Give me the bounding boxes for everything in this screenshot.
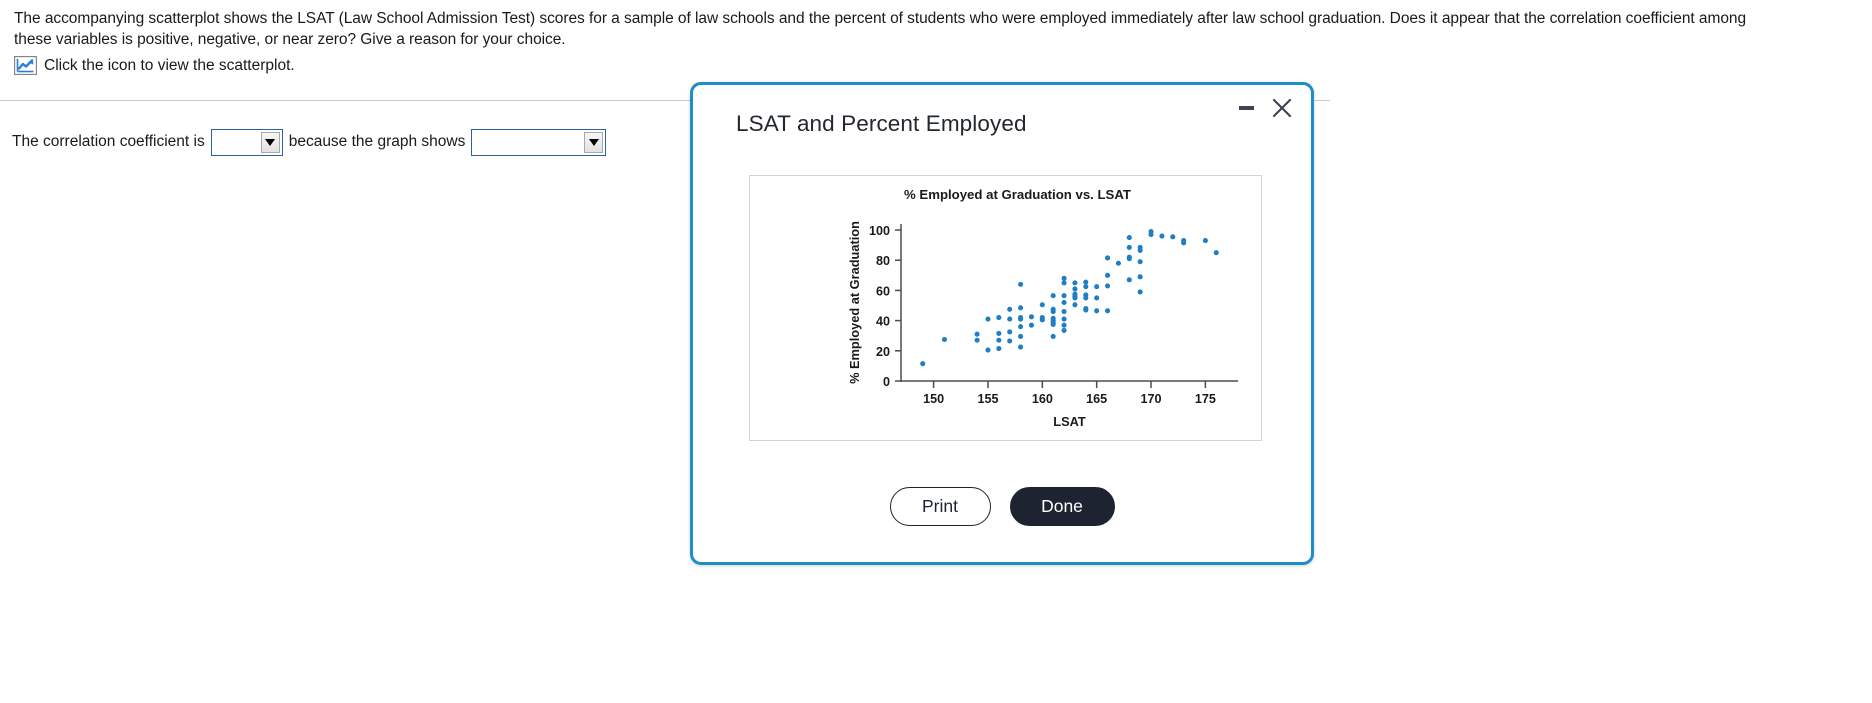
data-point: [1203, 238, 1208, 243]
data-point: [1127, 277, 1132, 282]
data-point: [1127, 256, 1132, 261]
data-point: [975, 332, 980, 337]
data-point: [1148, 232, 1153, 237]
data-point: [942, 337, 947, 342]
chevron-down-icon[interactable]: [584, 132, 603, 153]
data-point: [1062, 280, 1067, 285]
data-point: [1007, 338, 1012, 343]
dialog-titlebar: LSAT and Percent Employed: [693, 85, 1311, 149]
question-line-2: these variables is positive, negative, o…: [14, 29, 1862, 50]
chart-title: % Employed at Graduation vs. LSAT: [904, 187, 1131, 202]
data-point: [1170, 234, 1175, 239]
data-point: [1083, 284, 1088, 289]
data-point: [1072, 302, 1077, 307]
data-point: [1051, 293, 1056, 298]
view-scatterplot-label: Click the icon to view the scatterplot.: [44, 56, 295, 75]
data-point: [1051, 322, 1056, 327]
page-root: The accompanying scatterplot shows the L…: [0, 0, 1872, 703]
scatterplot-dialog: LSAT and Percent Employed % Employed at …: [690, 82, 1314, 565]
caret-shape: [589, 139, 599, 146]
graph-reason-dropdown[interactable]: [471, 129, 606, 156]
data-point: [1062, 328, 1067, 333]
data-point: [1018, 344, 1023, 349]
data-point: [1127, 235, 1132, 240]
data-point: [1105, 283, 1110, 288]
answer-prefix-label: The correlation coefficient is: [12, 133, 205, 151]
data-point: [1094, 284, 1099, 289]
y-tick-label: 100: [869, 224, 890, 238]
data-point: [1094, 308, 1099, 313]
close-icon[interactable]: [1271, 97, 1293, 119]
y-tick-label: 0: [883, 375, 890, 389]
data-point: [1040, 302, 1045, 307]
print-button[interactable]: Print: [890, 487, 991, 526]
question-block: The accompanying scatterplot shows the L…: [14, 8, 1862, 75]
data-point: [1159, 234, 1164, 239]
correlation-sign-dropdown[interactable]: [211, 129, 283, 156]
caret-shape: [265, 139, 275, 146]
data-point: [1138, 274, 1143, 279]
data-point: [1051, 334, 1056, 339]
answer-row: The correlation coefficient is because t…: [12, 128, 612, 156]
data-point: [1018, 324, 1023, 329]
minimize-bar: [1239, 106, 1254, 110]
data-point: [1083, 295, 1088, 300]
done-button[interactable]: Done: [1010, 487, 1115, 526]
data-point: [1018, 334, 1023, 339]
x-tick-label: 160: [1032, 392, 1053, 406]
y-tick-label: 60: [876, 284, 890, 298]
view-scatterplot-link[interactable]: Click the icon to view the scatterplot.: [14, 56, 1862, 75]
data-point: [1105, 273, 1110, 278]
data-point: [996, 315, 1001, 320]
question-line-1: The accompanying scatterplot shows the L…: [14, 8, 1862, 29]
dialog-action-buttons: Print Done: [693, 487, 1311, 526]
line-chart-icon[interactable]: [14, 56, 37, 75]
data-point: [1029, 314, 1034, 319]
data-point: [1018, 305, 1023, 310]
scatterplot-figure: % Employed at Graduation vs. LSAT0204060…: [750, 176, 1261, 440]
data-point: [1007, 329, 1012, 334]
data-point: [1138, 259, 1143, 264]
scatter-series: [920, 229, 1219, 366]
data-point: [1105, 308, 1110, 313]
data-point: [1007, 317, 1012, 322]
x-tick-label: 155: [977, 392, 998, 406]
y-tick-label: 40: [876, 315, 890, 329]
data-point: [1062, 276, 1067, 281]
minimize-icon[interactable]: [1236, 98, 1256, 118]
data-point: [1083, 280, 1088, 285]
data-point: [996, 346, 1001, 351]
data-point: [1029, 323, 1034, 328]
data-point: [920, 361, 925, 366]
data-point: [1138, 248, 1143, 253]
data-point: [1018, 317, 1023, 322]
data-point: [975, 338, 980, 343]
y-axis-label: % Employed at Graduation: [847, 221, 862, 384]
data-point: [1062, 309, 1067, 314]
data-point: [1062, 300, 1067, 305]
data-point: [1040, 317, 1045, 322]
data-point: [1214, 250, 1219, 255]
data-point: [1094, 295, 1099, 300]
data-point: [1116, 261, 1121, 266]
data-point: [1062, 323, 1067, 328]
x-tick-label: 150: [923, 392, 944, 406]
data-point: [1181, 240, 1186, 245]
data-point: [1072, 295, 1077, 300]
dialog-title: LSAT and Percent Employed: [736, 111, 1027, 137]
x-tick-label: 175: [1195, 392, 1216, 406]
y-tick-label: 20: [876, 345, 890, 359]
data-point: [1083, 308, 1088, 313]
y-tick-label: 80: [876, 254, 890, 268]
window-controls: [1236, 97, 1293, 119]
data-point: [985, 348, 990, 353]
x-tick-label: 165: [1086, 392, 1107, 406]
scatterplot-panel: % Employed at Graduation vs. LSAT0204060…: [749, 175, 1262, 441]
x-axis-label: LSAT: [1053, 414, 1086, 429]
data-point: [1138, 289, 1143, 294]
data-point: [996, 331, 1001, 336]
data-point: [985, 317, 990, 322]
chevron-down-icon[interactable]: [261, 132, 280, 153]
data-point: [1051, 309, 1056, 314]
data-point: [996, 338, 1001, 343]
data-point: [1018, 282, 1023, 287]
data-point: [1072, 286, 1077, 291]
data-point: [1062, 293, 1067, 298]
data-point: [1072, 280, 1077, 285]
x-tick-label: 170: [1141, 392, 1162, 406]
data-point: [1062, 317, 1067, 322]
data-point: [1127, 245, 1132, 250]
data-point: [1007, 307, 1012, 312]
answer-middle-label: because the graph shows: [289, 133, 466, 151]
data-point: [1105, 255, 1110, 260]
